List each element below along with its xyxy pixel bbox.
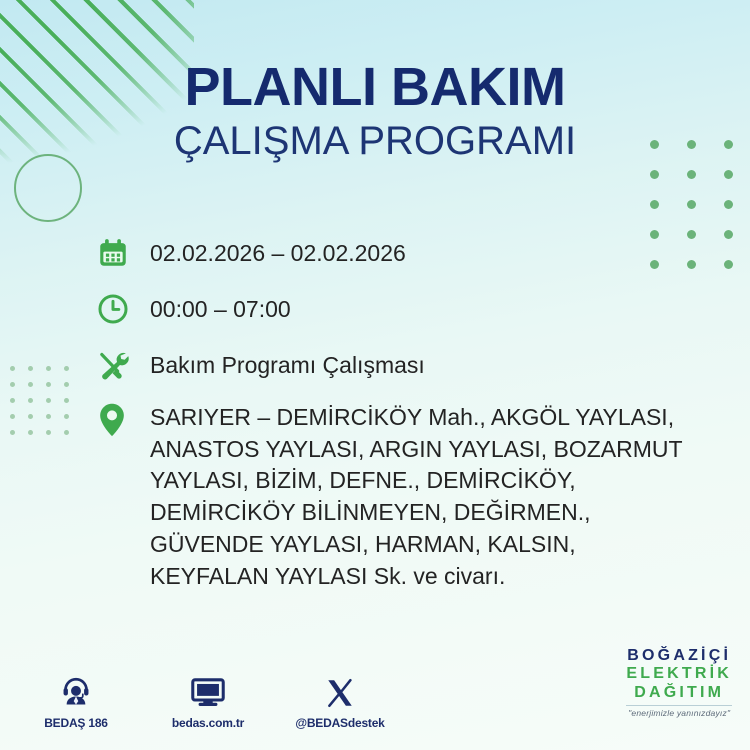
company-logo: BOĞAZİÇİ ELEKTRİK DAĞITIM "enerjimizle y…: [626, 647, 732, 718]
dot-grid-left-decoration: [10, 366, 82, 446]
page-header: PLANLI BAKIM ÇALIŞMA PROGRAMI: [0, 60, 750, 163]
brand-line-dagitim: DAĞITIM: [626, 684, 732, 702]
x-twitter-icon: [294, 669, 386, 709]
monitor-icon: [162, 669, 254, 709]
detail-row-time: 00:00 – 07:00: [96, 288, 696, 330]
brand-tagline: "enerjimizle yanınızdayız": [626, 705, 732, 718]
circle-outline-decoration: [14, 154, 82, 222]
contact-website-label: bedas.com.tr: [162, 716, 254, 730]
contact-phone-label: BEDAŞ 186: [30, 716, 122, 730]
contact-channels: BEDAŞ 186 bedas.com.tr: [30, 669, 386, 730]
brand-line-bogazici: BOĞAZİÇİ: [626, 647, 732, 665]
location-value: SARIYER – DEMİRCİKÖY Mah., AKGÖL YAYLASI…: [150, 400, 696, 592]
date-range-value: 02.02.2026 – 02.02.2026: [150, 232, 406, 268]
location-pin-icon: [96, 400, 150, 444]
contact-x-label: @BEDASdestek: [294, 716, 386, 730]
brand-line-elektrik: ELEKTRİK: [626, 665, 732, 683]
time-range-value: 00:00 – 07:00: [150, 288, 291, 324]
detail-row-work-type: Bakım Programı Çalışması: [96, 344, 696, 386]
calendar-icon: [96, 232, 150, 274]
headset-agent-icon: [30, 669, 122, 709]
maintenance-details: 02.02.2026 – 02.02.2026 00:00 – 07:00 Ba…: [96, 232, 696, 606]
detail-row-location: SARIYER – DEMİRCİKÖY Mah., AKGÖL YAYLASI…: [96, 400, 696, 592]
work-type-value: Bakım Programı Çalışması: [150, 344, 425, 380]
clock-icon: [96, 288, 150, 330]
tools-icon: [96, 344, 150, 386]
detail-row-date: 02.02.2026 – 02.02.2026: [96, 232, 696, 274]
page-subtitle: ÇALIŞMA PROGRAMI: [0, 119, 750, 163]
contact-phone[interactable]: BEDAŞ 186: [30, 669, 122, 730]
page-footer: BEDAŞ 186 bedas.com.tr: [0, 650, 750, 734]
planned-maintenance-poster: PLANLI BAKIM ÇALIŞMA PROGRAMI 02: [0, 0, 750, 750]
contact-website[interactable]: bedas.com.tr: [162, 669, 254, 730]
page-title: PLANLI BAKIM: [0, 60, 750, 115]
contact-x-twitter[interactable]: @BEDASdestek: [294, 669, 386, 730]
